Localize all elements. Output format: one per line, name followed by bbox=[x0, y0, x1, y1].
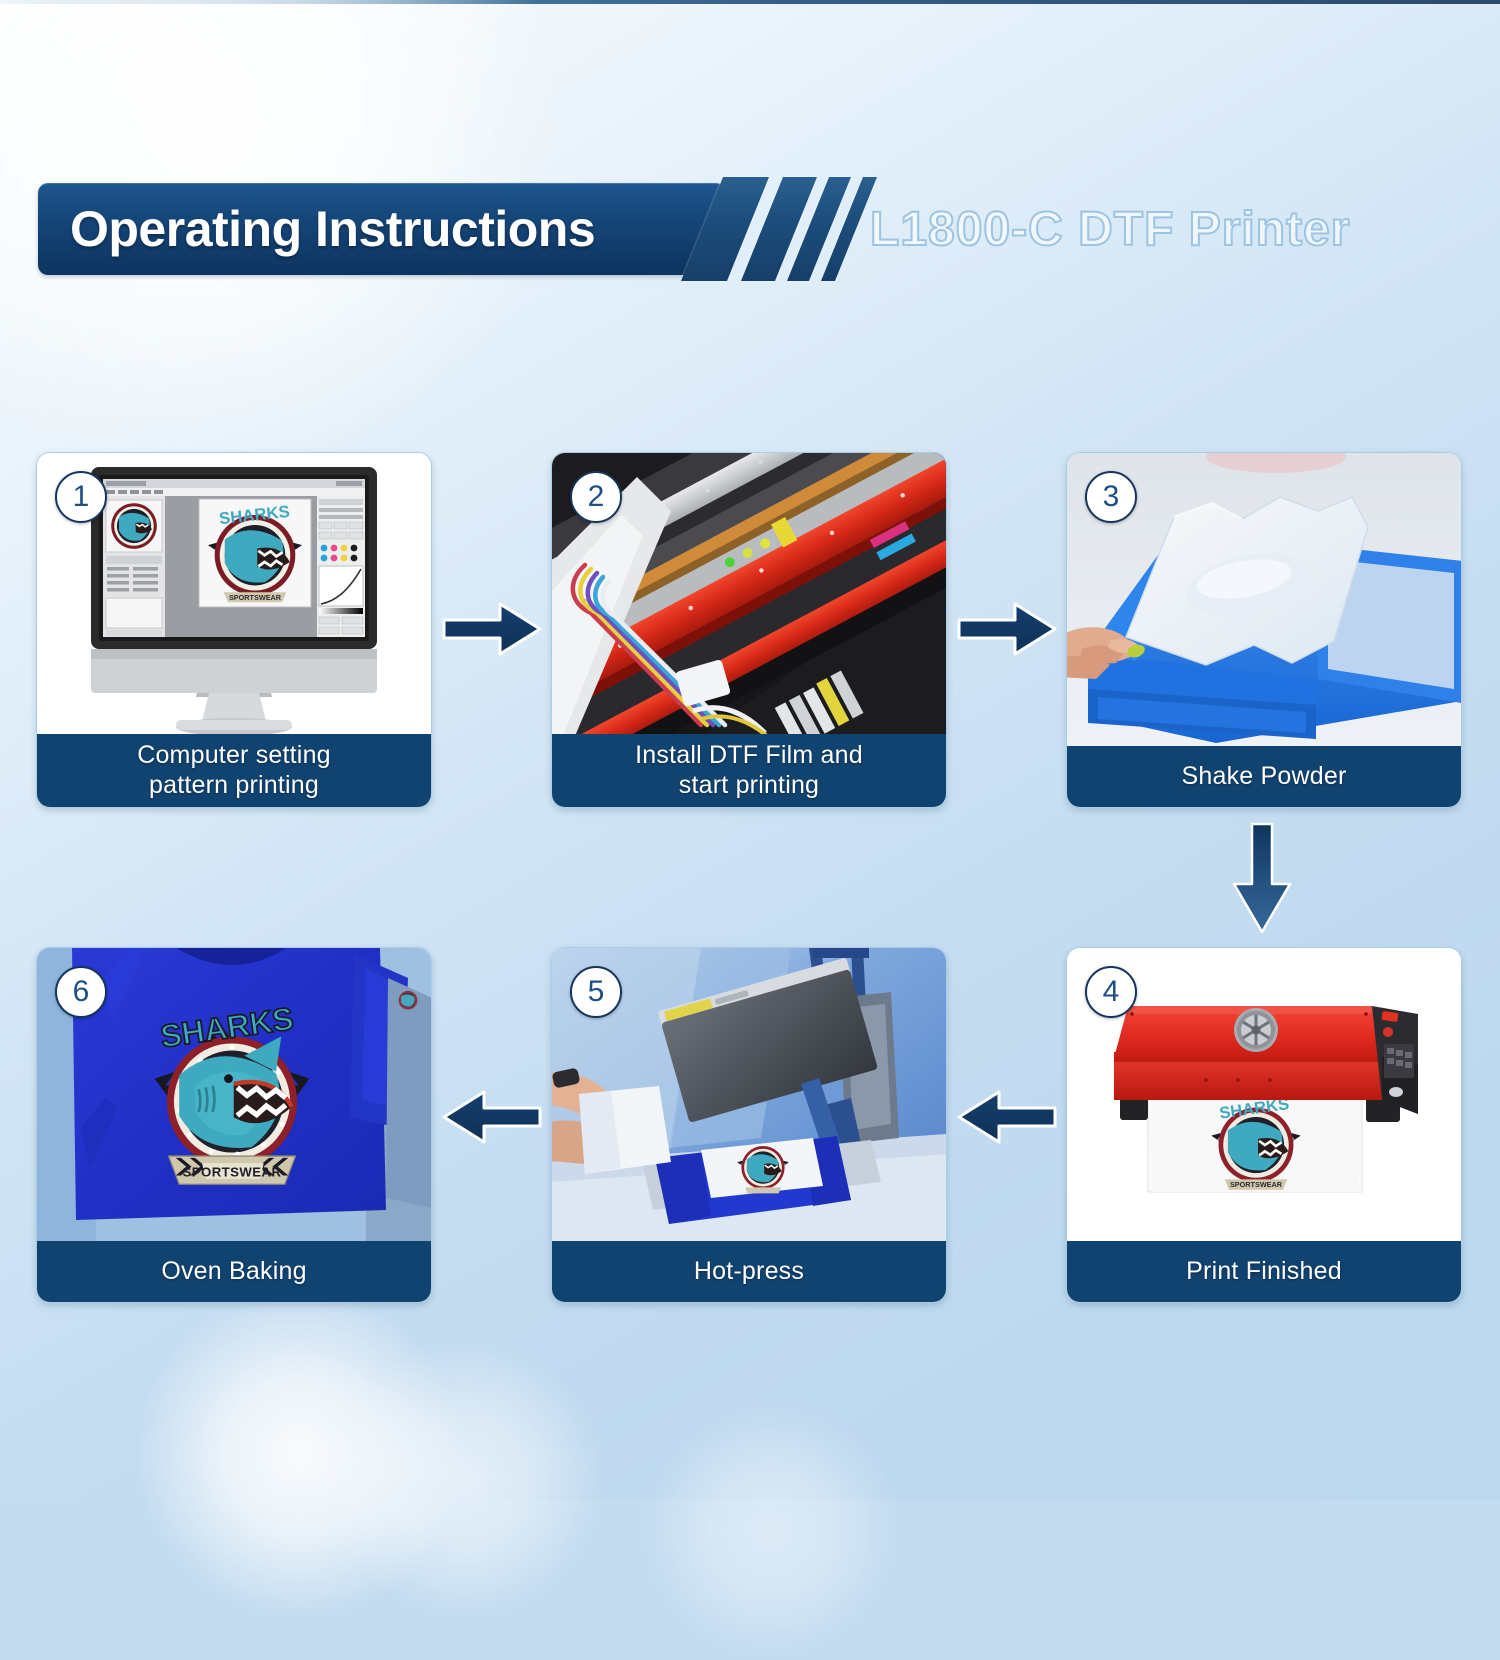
step-caption-1-line2: pattern printing bbox=[149, 771, 319, 799]
step-caption-3: Shake Powder bbox=[1067, 746, 1461, 807]
step-badge-4: 4 bbox=[1085, 966, 1137, 1018]
step-card-2[interactable]: 2 Install DTF Film and start printing bbox=[551, 452, 947, 808]
step-caption-6: Oven Baking bbox=[37, 1241, 431, 1302]
svg-text:SPORTSWEAR: SPORTSWEAR bbox=[229, 593, 282, 602]
step-badge-2: 2 bbox=[570, 471, 622, 523]
step-caption-1-line1: Computer setting bbox=[137, 741, 331, 769]
step-card-1[interactable]: SHARKS SPORTSWEAR 1 Computer setting pat… bbox=[36, 452, 432, 808]
step-badge-1: 1 bbox=[55, 471, 107, 523]
step-caption-6-line1: Oven Baking bbox=[161, 1257, 306, 1287]
arrow-step2-to-step3 bbox=[955, 592, 1059, 666]
step-card-3[interactable]: 3 Shake Powder bbox=[1066, 452, 1462, 808]
step-caption-3-line1: Shake Powder bbox=[1182, 762, 1347, 792]
step-caption-5-line1: Hot-press bbox=[694, 1257, 804, 1287]
arrow-step4-to-step5 bbox=[955, 1080, 1059, 1154]
title-banner: Operating Instructions bbox=[38, 183, 726, 275]
step-caption-2: Install DTF Film and start printing bbox=[552, 734, 946, 807]
svg-text:SPORTSWEAR: SPORTSWEAR bbox=[1230, 1180, 1283, 1189]
step-caption-5: Hot-press bbox=[552, 1241, 946, 1302]
arrow-step1-to-step2 bbox=[440, 592, 544, 666]
step-caption-2-line2: start printing bbox=[679, 771, 819, 799]
step-caption-4-line1: Print Finished bbox=[1186, 1257, 1342, 1287]
step-caption-2-line1: Install DTF Film and bbox=[635, 741, 863, 769]
step-badge-5: 5 bbox=[570, 966, 622, 1018]
page-header: Operating Instructions L1800-C DTF Print… bbox=[0, 183, 1500, 291]
product-name: L1800-C DTF Printer bbox=[870, 187, 1350, 273]
page-title: Operating Instructions bbox=[38, 200, 595, 258]
step-card-4[interactable]: SHARKS SPORTSWEAR bbox=[1066, 947, 1462, 1303]
arrow-step5-to-step6 bbox=[440, 1080, 544, 1154]
step-card-6[interactable]: SHARKS SPORTSWEAR 6 Oven Baking bbox=[36, 947, 432, 1303]
arrow-step3-to-step4 bbox=[1222, 820, 1302, 938]
step-badge-3: 3 bbox=[1085, 471, 1137, 523]
glow-blob-bottom-center bbox=[560, 1400, 980, 1660]
step-caption-1: Computer setting pattern printing bbox=[37, 734, 431, 807]
step-card-5[interactable]: 5 Hot-press bbox=[551, 947, 947, 1303]
step-badge-6: 6 bbox=[55, 966, 107, 1018]
step-caption-4: Print Finished bbox=[1067, 1241, 1461, 1302]
svg-text:SPORTSWEAR: SPORTSWEAR bbox=[183, 1164, 282, 1179]
